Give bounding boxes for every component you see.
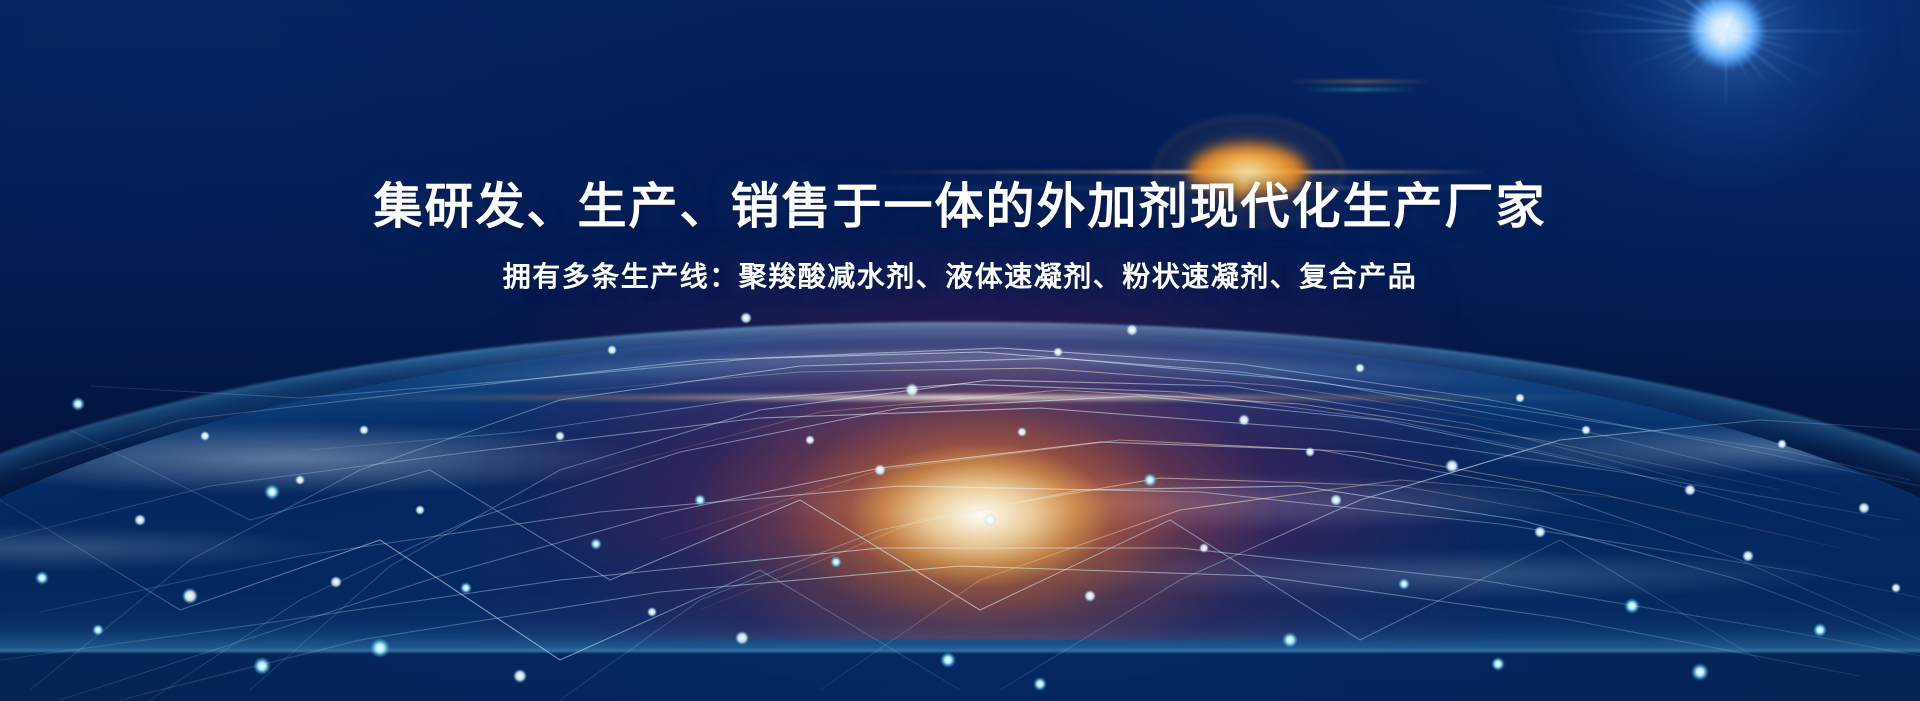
hero-subline: 拥有多条生产线：聚羧酸减水剂、液体速凝剂、粉状速凝剂、复合产品 <box>0 257 1920 297</box>
hero-text-block: 集研发、生产、销售于一体的外加剂现代化生产厂家 拥有多条生产线：聚羧酸减水剂、液… <box>0 175 1920 297</box>
hero-headline: 集研发、生产、销售于一体的外加剂现代化生产厂家 <box>0 175 1920 239</box>
hero-banner: 集研发、生产、销售于一体的外加剂现代化生产厂家 拥有多条生产线：聚羧酸减水剂、液… <box>0 0 1920 701</box>
network-mesh-icon <box>0 0 1920 701</box>
